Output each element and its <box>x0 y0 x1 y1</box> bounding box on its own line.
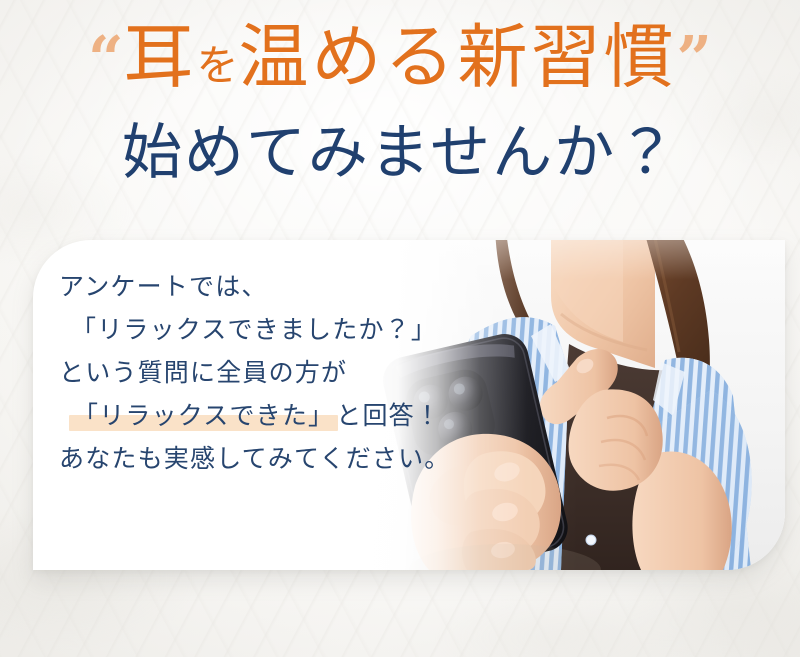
decorative-close-quote-icon: ” <box>676 28 712 90</box>
headline-line-1-particle: を <box>196 45 238 87</box>
promo-banner: “ 耳を温める新習慣 ” 始めてみませんか？ <box>0 0 800 657</box>
copy-line-1: アンケートでは、 <box>59 274 489 299</box>
headline-line-2: 始めてみませんか？ <box>0 120 800 187</box>
copy-line-4-tail: と回答！ <box>336 401 441 430</box>
survey-result-card: アンケートでは、 「リラックスできましたか？」 という質問に全員の方が 「リラッ… <box>33 240 785 570</box>
headline-line-1-kanji-1: 耳 <box>123 22 196 92</box>
headline-block: “ 耳を温める新習慣 ” 始めてみませんか？ <box>0 22 800 187</box>
copy-line-5: あなたも実感してみてください。 <box>59 446 489 471</box>
copy-line-2: 「リラックスできましたか？」 <box>59 317 489 342</box>
copy-line-3: という質問に全員の方が <box>59 360 489 385</box>
headline-line-1: “ 耳を温める新習慣 ” <box>0 22 800 114</box>
headline-line-1-kanji-2: 温める新習慣 <box>239 22 677 92</box>
card-copy-block: アンケートでは、 「リラックスできましたか？」 という質問に全員の方が 「リラッ… <box>59 274 489 471</box>
copy-line-4: 「リラックスできた」と回答！ <box>59 403 489 428</box>
decorative-open-quote-icon: “ <box>88 28 124 90</box>
highlighted-quote-text: 「リラックスできた」 <box>71 403 336 428</box>
